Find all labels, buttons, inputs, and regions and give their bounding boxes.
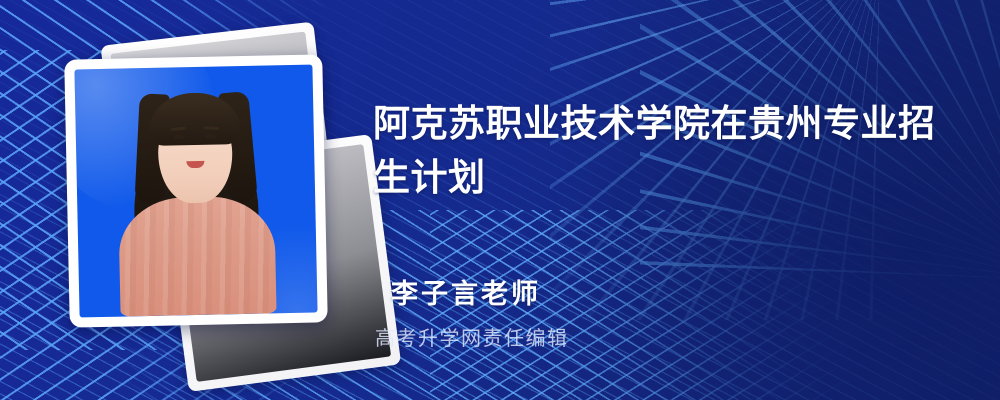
article-header-banner: 阿克苏职业技术学院在贵州专业招生计划 李子言老师 高考升学网责任编辑 <box>0 0 1000 400</box>
author-role-label: 高考升学网责任编辑 <box>375 322 569 351</box>
portrait-dress <box>118 195 276 316</box>
portrait-eye-right <box>205 134 216 139</box>
portrait-photo-icon <box>74 65 317 318</box>
portrait-eye-left <box>174 134 185 139</box>
author-name: 李子言老师 <box>391 272 541 311</box>
author-photo-frame <box>64 54 328 327</box>
author-photo-cluster <box>55 35 355 355</box>
author-photo <box>74 65 317 318</box>
page-title: 阿克苏职业技术学院在贵州专业招生计划 <box>373 97 963 205</box>
banner-text-column: 阿克苏职业技术学院在贵州专业招生计划 李子言老师 高考升学网责任编辑 <box>373 0 973 400</box>
